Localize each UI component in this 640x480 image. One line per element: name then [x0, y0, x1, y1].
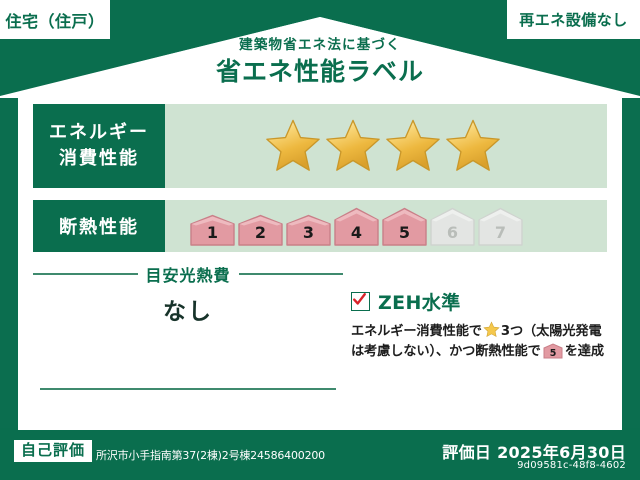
label-title: 省エネ性能ラベル: [0, 56, 640, 87]
svg-text:5: 5: [399, 223, 410, 242]
zeh-desc-stars: 3つ: [501, 324, 523, 339]
utility-cost-value: なし: [33, 292, 343, 326]
star-rating: [264, 117, 502, 175]
svg-text:6: 6: [447, 223, 458, 242]
insulation-performance-row: 断熱性能 1234567: [33, 200, 607, 252]
renewable-energy-tag-label: 再エネ設備なし: [519, 9, 628, 30]
insulation-level-2-icon: 2: [237, 214, 284, 246]
insulation-level-3-icon: 3: [285, 214, 332, 246]
insulation-level-7-icon: 7: [477, 207, 524, 246]
divider-right: [239, 273, 344, 275]
insulation-scale-area: 1234567: [165, 200, 607, 252]
star-icon: [264, 117, 322, 175]
insulation-level-badge-icon: 5: [543, 343, 563, 366]
svg-text:3: 3: [303, 223, 314, 242]
divider-left: [33, 273, 138, 275]
label-header: 住宅（住戸） 再エネ設備なし 建築物省エネ法に基づく 省エネ性能ラベル: [0, 0, 640, 98]
title-block: 建築物省エネ法に基づく 省エネ性能ラベル: [0, 38, 640, 87]
evaluation-id: 9d09581c-48f8-4602: [517, 460, 626, 471]
evaluation-date-label: 評価日: [442, 443, 491, 462]
checkmark-icon: [351, 292, 370, 311]
utility-cost-title: 目安光熱費: [146, 262, 231, 286]
insulation-performance-label-box: 断熱性能: [33, 200, 165, 252]
insulation-level-1-icon: 1: [189, 214, 236, 246]
utility-cost-bottom-rule: [40, 388, 336, 390]
energy-label-line2: 消費性能: [59, 146, 139, 172]
energy-label-line1: エネルギー: [49, 120, 149, 146]
label-subtitle: 建築物省エネ法に基づく: [0, 38, 640, 53]
energy-performance-label: 住宅（住戸） 再エネ設備なし 建築物省エネ法に基づく 省エネ性能ラベル エネルギ…: [0, 0, 640, 480]
zeh-desc-part1: エネルギー消費性能で: [351, 324, 482, 339]
zeh-desc-part3: を達成: [565, 344, 604, 359]
svg-text:1: 1: [207, 223, 218, 242]
footer-top-rule: [18, 428, 622, 430]
svg-text:7: 7: [495, 223, 506, 242]
building-type-tag-label: 住宅（住戸）: [5, 8, 104, 32]
energy-performance-stars-area: [165, 104, 607, 188]
label-footer: 自己評価 所沢市小手指南第37(2棟)2号棟24586400200 評価日 20…: [0, 428, 640, 480]
renewable-energy-tag: 再エネ設備なし: [507, 0, 640, 39]
star-icon: [483, 321, 500, 338]
svg-text:4: 4: [351, 223, 362, 242]
insulation-level-4-icon: 4: [333, 207, 380, 246]
insulation-level-5-icon: 5: [381, 207, 428, 246]
svg-text:2: 2: [255, 223, 266, 242]
insulation-level-6-icon: 6: [429, 207, 476, 246]
insulation-level-scale: 1234567: [189, 207, 524, 246]
building-type-tag: 住宅（住戸）: [0, 0, 110, 39]
insulation-label: 断熱性能: [59, 213, 139, 239]
svg-text:5: 5: [549, 348, 556, 359]
zeh-heading: ZEH水準: [351, 288, 607, 315]
label-body-panel: エネルギー 消費性能 断熱性能 1234567 目安光熱費 なし: [18, 92, 622, 428]
energy-performance-row: エネルギー 消費性能: [33, 104, 607, 188]
utility-cost-heading: 目安光熱費: [33, 262, 343, 286]
zeh-title: ZEH水準: [378, 288, 461, 315]
energy-performance-label-box: エネルギー 消費性能: [33, 104, 165, 188]
zeh-standard-block: ZEH水準 エネルギー消費性能で3つ（太陽光発電は考慮しない）、かつ断熱性能で5…: [351, 288, 607, 367]
zeh-description: エネルギー消費性能で3つ（太陽光発電は考慮しない）、かつ断熱性能で5を達成: [351, 321, 607, 367]
self-evaluation-badge: 自己評価: [14, 440, 92, 462]
star-icon: [384, 117, 442, 175]
star-icon: [444, 117, 502, 175]
star-icon: [324, 117, 382, 175]
property-address: 所沢市小手指南第37(2棟)2号棟24586400200: [96, 447, 325, 463]
